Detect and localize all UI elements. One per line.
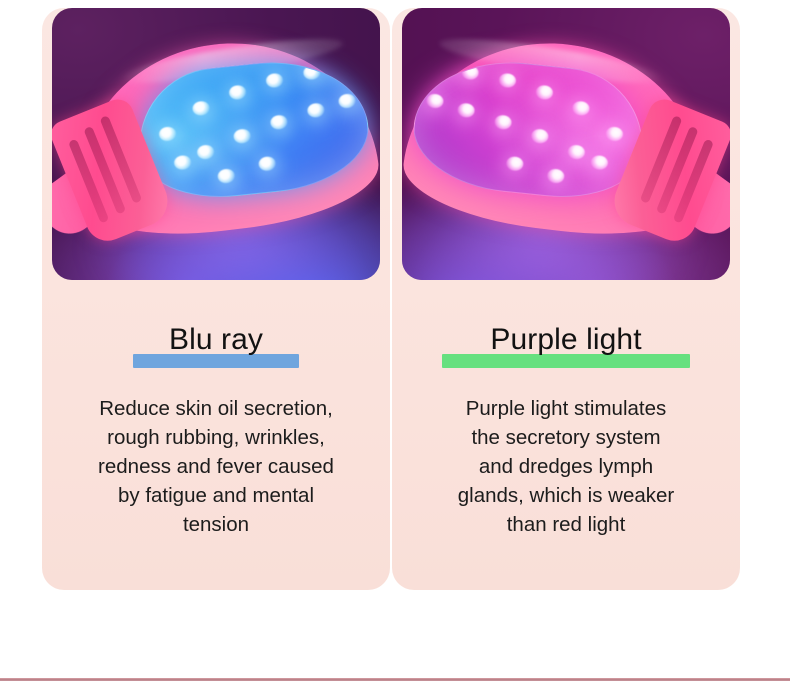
product-photo-blue-light bbox=[52, 8, 380, 280]
feature-title-wrap: Blu ray bbox=[42, 322, 390, 368]
feature-text-purple-light: Purple light Purple light stimulates the… bbox=[392, 280, 740, 590]
product-feature-panel: Blu ray Reduce skin oil secretion, rough… bbox=[0, 0, 790, 686]
feature-description: Reduce skin oil secretion, rough rubbing… bbox=[42, 394, 390, 539]
led-face-mask-device bbox=[52, 8, 380, 280]
strap-slot bbox=[99, 115, 142, 204]
feature-title-wrap: Purple light bbox=[392, 322, 740, 368]
feature-description: Purple light stimulates the secretory sy… bbox=[392, 394, 740, 539]
feature-title: Purple light bbox=[392, 322, 740, 358]
product-photo-purple-light bbox=[402, 8, 730, 280]
feature-card-blue-light: Blu ray Reduce skin oil secretion, rough… bbox=[42, 8, 390, 590]
feature-text-blue-light: Blu ray Reduce skin oil secretion, rough… bbox=[42, 280, 390, 590]
feature-title: Blu ray bbox=[42, 322, 390, 358]
bottom-divider-rule bbox=[0, 678, 790, 681]
led-face-mask-device bbox=[402, 8, 730, 280]
feature-card-purple-light: Purple light Purple light stimulates the… bbox=[392, 8, 740, 590]
